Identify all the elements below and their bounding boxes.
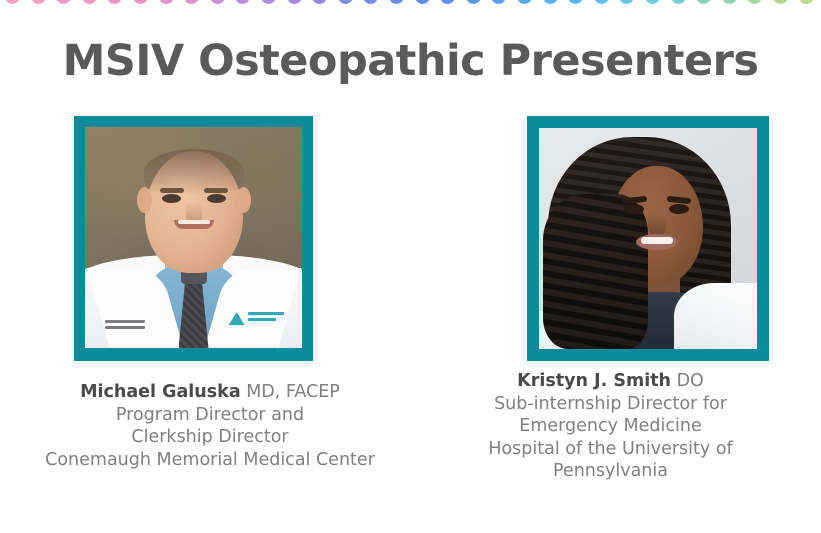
decorative-dot — [235, 0, 250, 4]
presenter-card-smith: Kristyn J. Smith DO Sub-internship Direc… — [400, 116, 821, 483]
white-coat-right — [674, 283, 757, 349]
decorative-dot — [799, 0, 814, 4]
coat-name-embroidery — [105, 317, 145, 333]
decorative-dot — [696, 0, 711, 4]
logo-wordmark — [248, 312, 284, 324]
decorative-dot — [261, 0, 276, 4]
decorative-dot — [107, 0, 122, 4]
presenter-detail-line: Conemaugh Memorial Medical Center — [0, 449, 420, 472]
decorative-dot — [466, 0, 481, 4]
decorative-dot — [5, 0, 20, 4]
logo-mark — [229, 312, 245, 325]
photo-frame-smith — [527, 116, 769, 361]
decorative-dot-band — [0, 0, 821, 12]
teeth — [641, 237, 673, 244]
decorative-dot — [440, 0, 455, 4]
decorative-dot — [415, 0, 430, 4]
decorative-dot — [671, 0, 686, 4]
presenter-detail-line: Emergency Medicine — [400, 415, 821, 438]
presenter-name-row: Michael Galuska MD, FACEP — [0, 381, 420, 404]
eyebrow-right — [204, 188, 228, 193]
decorative-dot — [184, 0, 199, 4]
presenter-detail-line: Hospital of the University of — [400, 438, 821, 461]
presenter-caption-galuska: Michael Galuska MD, FACEP Program Direct… — [0, 381, 420, 471]
presenter-detail-line: Clerkship Director — [0, 426, 420, 449]
decorative-dot — [210, 0, 225, 4]
embroidery-line — [105, 320, 145, 323]
decorative-dot — [619, 0, 634, 4]
decorative-dot — [568, 0, 583, 4]
hospital-logo-icon — [229, 310, 285, 328]
ear-left — [137, 187, 152, 213]
decorative-dot — [133, 0, 148, 4]
page-title: MSIV Osteopathic Presenters — [0, 36, 821, 86]
presenter-card-galuska: Michael Galuska MD, FACEP Program Direct… — [0, 116, 420, 471]
decorative-dot — [31, 0, 46, 4]
presenter-credentials: DO — [671, 371, 704, 391]
decorative-dot — [645, 0, 660, 4]
decorative-dot — [543, 0, 558, 4]
braided-locks — [543, 194, 648, 349]
logo-wordmark-line — [248, 318, 277, 321]
decorative-dot — [82, 0, 97, 4]
decorative-dot — [491, 0, 506, 4]
presenter-credentials: MD, FACEP — [241, 382, 340, 402]
presenter-name: Kristyn J. Smith — [517, 371, 671, 391]
eyebrow-left — [160, 188, 184, 193]
decorative-dot — [56, 0, 71, 4]
logo-wordmark-line — [248, 312, 284, 315]
presenter-detail-line: Pennsylvania — [400, 460, 821, 483]
embroidery-line — [105, 326, 145, 329]
decorative-dot — [363, 0, 378, 4]
presenter-caption-smith: Kristyn J. Smith DO Sub-internship Direc… — [400, 370, 821, 483]
presenter-detail-line: Program Director and — [0, 404, 420, 427]
decorative-dot — [747, 0, 762, 4]
decorative-dot — [722, 0, 737, 4]
presenter-name-row: Kristyn J. Smith DO — [400, 370, 821, 393]
portrait-photo-galuska — [85, 127, 302, 348]
hair — [144, 149, 244, 195]
decorative-dot — [312, 0, 327, 4]
ear-right — [236, 187, 251, 213]
presenter-name: Michael Galuska — [80, 382, 241, 402]
decorative-dot — [773, 0, 788, 4]
photo-frame-galuska — [74, 116, 313, 361]
decorative-dot — [338, 0, 353, 4]
decorative-dot — [594, 0, 609, 4]
presenter-detail-line: Sub-internship Director for — [400, 393, 821, 416]
teeth — [178, 220, 210, 224]
decorative-dot — [389, 0, 404, 4]
decorative-dot — [287, 0, 302, 4]
decorative-dot — [159, 0, 174, 4]
portrait-photo-smith — [539, 128, 757, 349]
decorative-dot — [517, 0, 532, 4]
